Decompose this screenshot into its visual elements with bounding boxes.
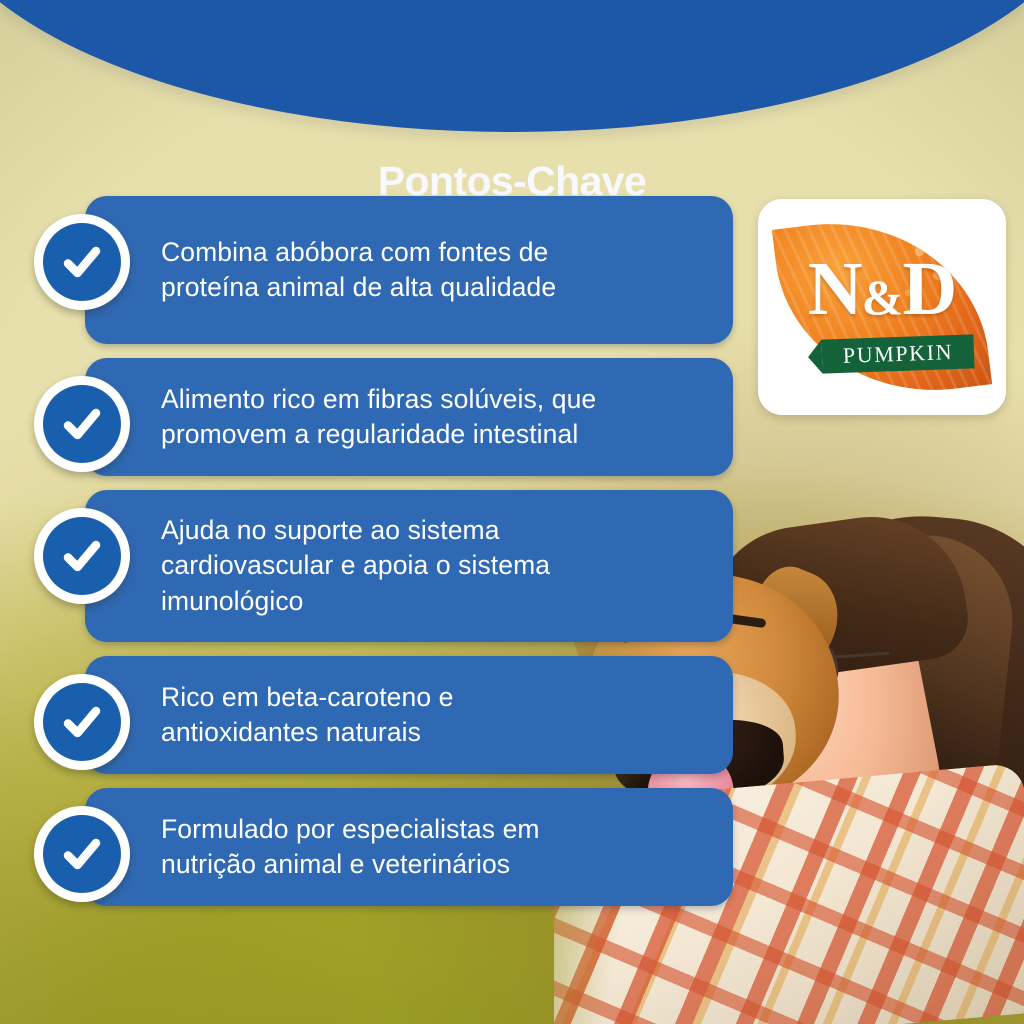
brand-letter-d: D: [902, 247, 956, 331]
check-icon: [34, 806, 130, 902]
key-point-text: Formulado por especialistas em nutrição …: [85, 796, 570, 899]
list-item: Formulado por especialistas em nutrição …: [0, 788, 760, 906]
key-points-infographic: Pontos-Chave Combina abóbora com fontes …: [0, 0, 1024, 1024]
list-item: Rico em beta-caroteno e antioxidantes na…: [0, 656, 760, 774]
brand-ampersand: &: [862, 269, 903, 325]
key-points-list: Combina abóbora com fontes de proteína a…: [0, 196, 760, 920]
key-point-pill[interactable]: Rico em beta-caroteno e antioxidantes na…: [85, 656, 733, 774]
check-icon: [34, 376, 130, 472]
brand-wordmark: N&D: [758, 251, 1006, 327]
brand-letter-n: N: [808, 247, 862, 331]
check-icon: [34, 508, 130, 604]
pumpkin-banner-label: PUMPKIN: [842, 339, 953, 369]
check-icon: [34, 214, 130, 310]
pumpkin-banner: PUMPKIN: [821, 334, 974, 373]
list-item: Ajuda no suporte ao sistema cardiovascul…: [0, 490, 760, 642]
nd-pumpkin-logo-card[interactable]: N&D PUMPKIN: [758, 199, 1006, 415]
key-point-text: Combina abóbora com fontes de proteína a…: [85, 219, 586, 322]
key-point-text: Ajuda no suporte ao sistema cardiovascul…: [85, 497, 580, 636]
list-item: Alimento rico em fibras solúveis, que pr…: [0, 358, 760, 476]
key-point-text: Alimento rico em fibras solúveis, que pr…: [85, 366, 626, 469]
key-point-pill[interactable]: Combina abóbora com fontes de proteína a…: [85, 196, 733, 344]
key-point-pill[interactable]: Ajuda no suporte ao sistema cardiovascul…: [85, 490, 733, 642]
key-point-pill[interactable]: Formulado por especialistas em nutrição …: [85, 788, 733, 906]
key-point-pill[interactable]: Alimento rico em fibras solúveis, que pr…: [85, 358, 733, 476]
key-point-text: Rico em beta-caroteno e antioxidantes na…: [85, 664, 483, 767]
list-item: Combina abóbora com fontes de proteína a…: [0, 196, 760, 344]
check-icon: [34, 674, 130, 770]
